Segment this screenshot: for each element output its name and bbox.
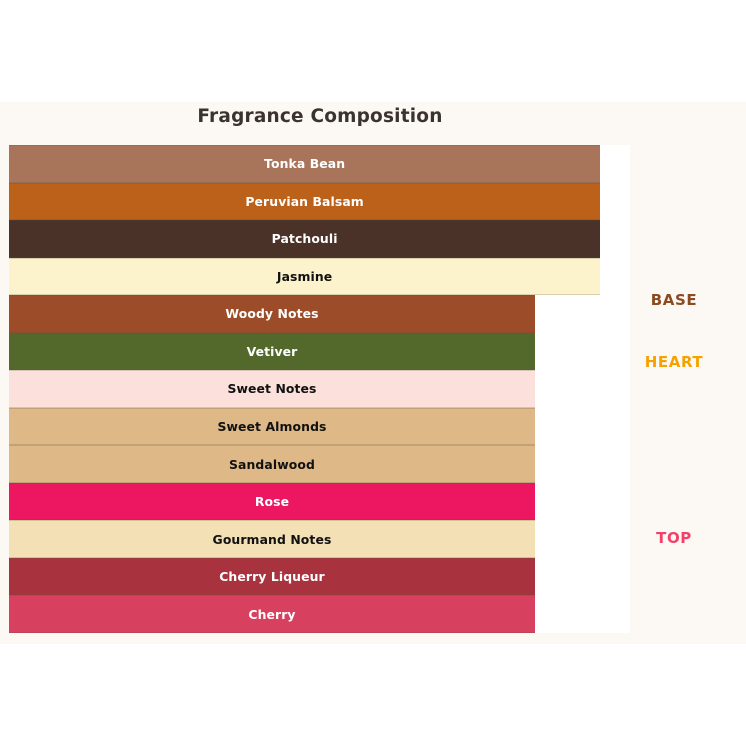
bar-rect (9, 558, 535, 596)
chart-title: Fragrance Composition (0, 106, 640, 127)
bar-row[interactable]: Gourmand Notes (9, 520, 535, 558)
bar-rect (9, 595, 535, 633)
bar-rect (9, 220, 600, 258)
bar-rect (9, 258, 600, 296)
bar-rect (9, 145, 600, 183)
bar-row[interactable]: Sweet Almonds (9, 408, 535, 446)
bar-row[interactable]: Sweet Notes (9, 370, 535, 408)
bar-row[interactable]: Tonka Bean (9, 145, 600, 183)
bar-row[interactable]: Cherry Liqueur (9, 558, 535, 596)
bar-rect (9, 408, 535, 446)
plot-area: Tonka BeanPeruvian BalsamPatchouliJasmin… (9, 145, 630, 633)
bar-rect (9, 483, 535, 521)
bar-row[interactable]: Cherry (9, 595, 535, 633)
bar-rect (9, 520, 535, 558)
figure-canvas: Fragrance Composition Tonka BeanPeruvian… (0, 0, 746, 746)
bar-rect (9, 445, 535, 483)
legend-group-top[interactable]: TOP (656, 529, 692, 547)
bar-row[interactable]: Sandalwood (9, 445, 535, 483)
bar-rect (9, 183, 600, 221)
bar-rect (9, 295, 535, 333)
bar-row[interactable]: Peruvian Balsam (9, 183, 600, 221)
bar-row[interactable]: Patchouli (9, 220, 600, 258)
bar-row[interactable]: Rose (9, 483, 535, 521)
bar-row[interactable]: Jasmine (9, 258, 600, 296)
bar-rect (9, 370, 535, 408)
bar-row[interactable]: Vetiver (9, 333, 535, 371)
legend-group-base[interactable]: BASE (651, 291, 698, 309)
bar-rect (9, 333, 535, 371)
legend-group-heart[interactable]: HEART (645, 353, 704, 371)
bar-row[interactable]: Woody Notes (9, 295, 535, 333)
